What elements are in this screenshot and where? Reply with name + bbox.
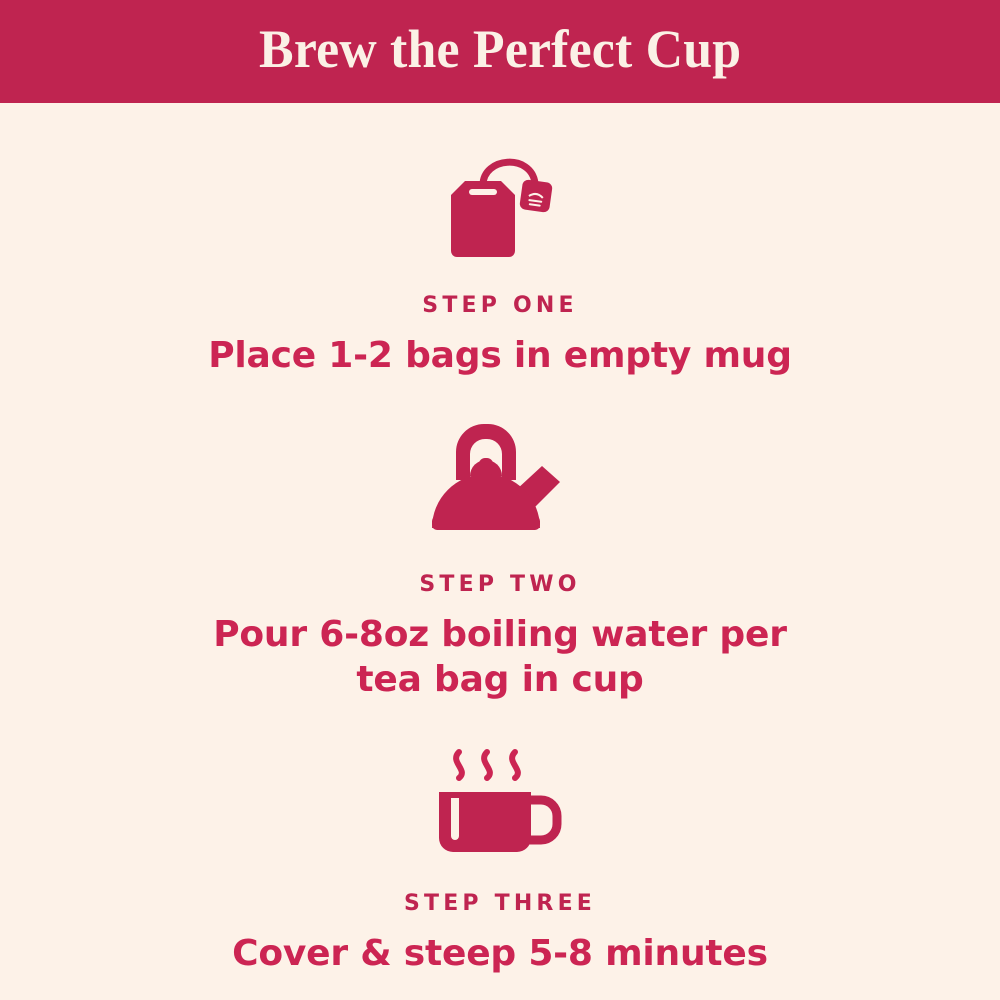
step-two-kicker: STEP TWO: [419, 574, 580, 596]
step-one-kicker: STEP ONE: [422, 295, 577, 317]
step-three-text: Cover & steep 5-8 minutes: [232, 931, 768, 976]
step-two-text: Pour 6-8oz boiling water per tea bag in …: [213, 612, 787, 702]
brew-instructions-poster: Brew the Perfect Cup: [0, 0, 1000, 1000]
step-one-text: Place 1-2 bags in empty mug: [208, 333, 792, 378]
page-title: Brew the Perfect Cup: [259, 22, 741, 76]
step-two: STEP TWO Pour 6-8oz boiling water per te…: [0, 378, 1000, 702]
step-two-text-line-1: Pour 6-8oz boiling water per: [213, 612, 787, 657]
step-three-icon-wrap: [425, 734, 575, 859]
step-three-kicker: STEP THREE: [404, 893, 596, 915]
tea-bag-icon: [435, 141, 565, 261]
step-three: STEP THREE Cover & steep 5-8 minutes: [0, 702, 1000, 976]
step-one-icon-wrap: [435, 141, 565, 261]
kettle-icon: [420, 418, 580, 536]
step-two-text-line-2: tea bag in cup: [213, 657, 787, 702]
steaming-mug-icon: [425, 734, 575, 859]
step-one: STEP ONE Place 1-2 bags in empty mug: [0, 137, 1000, 378]
header-band: Brew the Perfect Cup: [0, 0, 1000, 103]
step-two-icon-wrap: [420, 416, 580, 536]
steps-list: STEP ONE Place 1-2 bags in empty mug: [0, 103, 1000, 1000]
